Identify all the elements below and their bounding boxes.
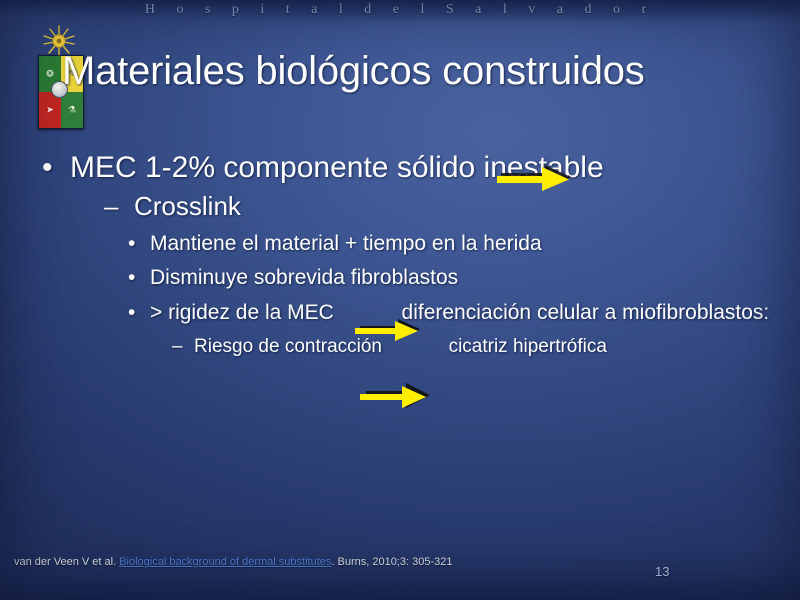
citation-prefix: van der Veen V et al. [14,556,119,568]
crest-quadrant-4: ⚗ [61,92,83,128]
citation-suffix: . Burns, 2010;3: 305-321 [331,556,452,568]
bullet-marker: – [104,191,118,222]
citation-link[interactable]: Biological background of dermal substitu… [119,556,331,568]
bullet-level2-item: – Crosslink [104,191,800,222]
bullet-level3-text: Mantiene el material + tiempo en la heri… [150,232,542,255]
bullet-level3-item: • Disminuye sobrevida fibroblastos [124,265,770,291]
crest-emblem-3: ➤ [46,106,54,115]
bullet-level3-item: • > rigidez de la MEC diferenciación cel… [124,300,770,326]
bullet-marker: • [42,150,53,185]
crest-emblem-4: ⚗ [68,106,76,115]
bullet-level1-item: • MEC 1-2% componente sólido inestable [38,150,630,185]
slide: H o s p i t a l d e l S a l v a d o r ❂ [0,0,800,600]
page-title: Materiales biológicos construidos [62,50,762,92]
page-number: 13 [655,564,669,579]
bullet-marker: – [172,336,183,359]
bullet-marker: • [128,300,135,326]
bullet-level2-text: Crosslink [134,191,241,221]
bullet-level3-text-before: > rigidez de la MEC [150,301,334,324]
hospital-name-header: H o s p i t a l d e l S a l v a d o r [0,2,800,18]
bullet-marker: • [128,231,135,257]
bullet-marker: • [128,265,135,291]
bullet-level4-text-after: cicatriz hipertrófica [449,336,607,357]
bullet-level3-text: Disminuye sobrevida fibroblastos [150,266,458,289]
citation-text: van der Veen V et al. Biological backgro… [14,556,452,568]
crest-emblem-1: ❂ [46,70,54,79]
bullet-level4-text-before: Riesgo de contracción [194,336,382,357]
bullet-level4-item: – Riesgo de contracción cicatriz hipertr… [172,336,754,359]
slide-body: • MEC 1-2% componente sólido inestable –… [0,150,800,490]
bullet-level3-item: • Mantiene el material + tiempo en la he… [124,231,770,257]
bullet-level1-text: MEC 1-2% componente sólido inestable [70,151,604,184]
bullet-level3-text-after: diferenciación celular a miofibroblastos… [402,301,770,324]
